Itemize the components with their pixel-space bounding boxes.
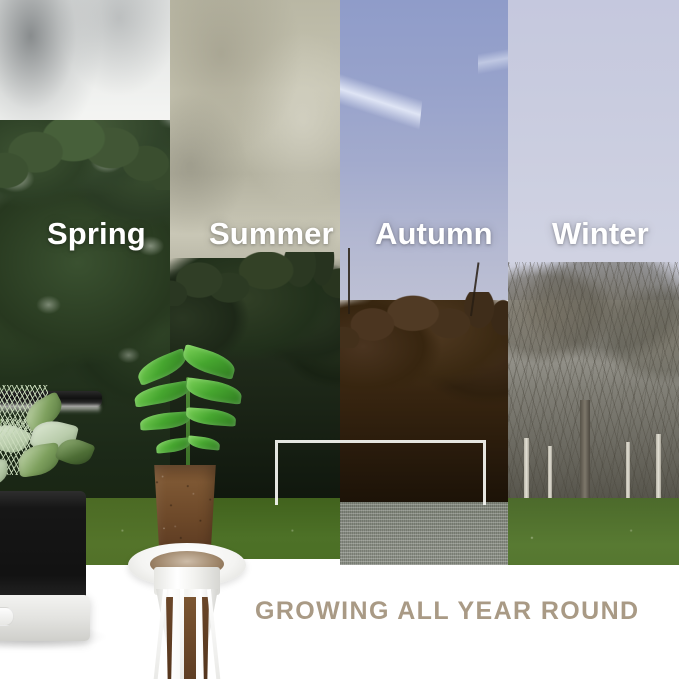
birch-trunk <box>524 438 529 504</box>
season-label-winter: Winter <box>552 218 649 249</box>
device-base <box>0 595 90 641</box>
pod-cage-slot <box>184 597 196 679</box>
canopy-edge-summer <box>170 252 340 306</box>
canopy-edge-autumn <box>340 292 508 348</box>
football-goal-post <box>275 440 486 505</box>
plant-leaf <box>186 407 237 426</box>
tree-trunk <box>580 400 590 504</box>
birch-trunk <box>626 442 630 504</box>
bare-twigs-texture <box>508 262 679 518</box>
season-label-summer: Summer <box>209 218 334 249</box>
seed-pod <box>122 357 254 679</box>
pod-cage-rib <box>180 589 184 679</box>
contrail-secondary-icon <box>478 0 508 134</box>
herb-cluster <box>0 383 90 495</box>
sky-autumn <box>340 0 508 300</box>
plant-leaf <box>187 435 220 450</box>
season-label-spring: Spring <box>47 218 146 249</box>
bare-branch-icon <box>348 248 350 314</box>
planter-body <box>0 491 86 599</box>
power-button[interactable] <box>0 607 14 626</box>
canopy-edge-spring <box>0 120 170 190</box>
plant-leaf <box>185 377 243 405</box>
sky-winter <box>508 0 679 300</box>
hydroponic-garden-device <box>0 391 102 641</box>
birch-trunk <box>656 434 661 504</box>
birch-trunk <box>548 446 552 504</box>
banner-root: Spring Summer Autumn Winter GROWING ALL … <box>0 0 679 679</box>
contrail-icon <box>340 0 434 220</box>
plant-leaf <box>140 411 191 430</box>
season-label-autumn: Autumn <box>375 218 493 249</box>
tagline-text: GROWING ALL YEAR ROUND <box>255 597 640 626</box>
